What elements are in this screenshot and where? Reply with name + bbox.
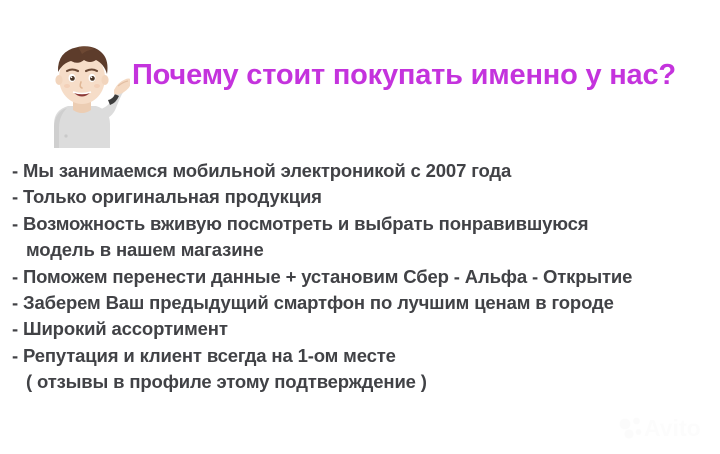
list-marker: - [12,158,23,184]
list-item-label: Заберем Ваш предыдущий смартфон по лучши… [23,292,614,313]
list-item-label: Мы занимаемся мобильной электроникой с 2… [23,160,511,181]
benefits-list: -Мы занимаемся мобильной электроникой с … [12,158,712,396]
list-item: -Возможность вживую посмотреть и выбрать… [12,211,712,237]
list-item-continuation: модель в нашем магазине [12,237,712,263]
avito-wordmark: Avito [644,415,701,441]
list-item-label: Поможем перенести данные + установим Сбе… [23,266,632,287]
list-marker: - [12,290,23,316]
list-item-label: модель в нашем магазине [26,239,264,260]
list-marker: - [12,184,23,210]
list-item: -Заберем Ваш предыдущий смартфон по лучш… [12,290,712,316]
man-tipping-hand-memoji-icon [34,38,130,148]
list-marker: - [12,316,23,342]
page-title: Почему стоит покупать именно у нас? [132,58,677,92]
list-item: -Мы занимаемся мобильной электроникой с … [12,158,712,184]
list-item-label: Репутация и клиент всегда на 1-ом месте [23,345,396,366]
avito-dots-logo-icon [620,418,642,439]
list-item: -Репутация и клиент всегда на 1-ом месте [12,343,712,369]
list-item-label: Только оригинальная продукция [23,186,322,207]
list-marker: - [12,343,23,369]
list-item-label: Возможность вживую посмотреть и выбрать … [23,213,588,234]
list-item-label: Широкий ассортимент [23,318,228,339]
list-marker: - [12,211,23,237]
list-item: -Поможем перенести данные + установим Сб… [12,264,712,290]
avito-watermark: Avito [617,412,709,444]
list-marker: - [12,264,23,290]
list-item: -Только оригинальная продукция [12,184,712,210]
listing-image-canvas: Почему стоит покупать именно у нас? -Мы … [0,0,720,454]
list-item-label: ( отзывы в профиле этому подтверждение ) [26,371,427,392]
list-item-continuation: ( отзывы в профиле этому подтверждение ) [12,369,712,395]
list-item: -Широкий ассортимент [12,316,712,342]
